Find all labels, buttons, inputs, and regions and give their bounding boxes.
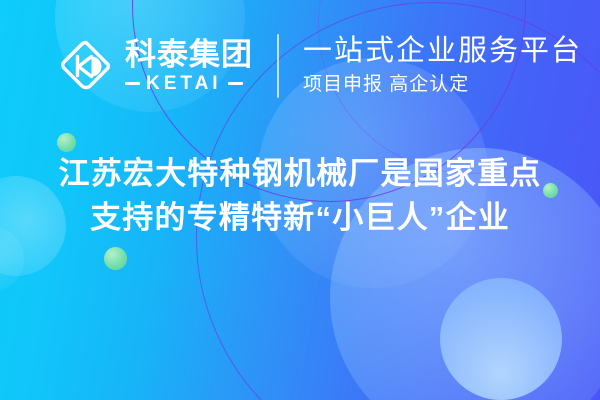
slogan-secondary: 项目申报 高企认定 xyxy=(303,73,582,98)
brand-dash-right xyxy=(228,82,243,85)
brand-name-en-row: KETAI xyxy=(125,74,253,93)
promo-banner: 科泰集团 KETAI 一站式企业服务平台 项目申报 高企认定 江苏宏大特种钢机械… xyxy=(0,0,600,400)
decor-dot-green-bottom xyxy=(104,247,127,270)
ketai-diamond-kd-logo-icon xyxy=(58,38,114,94)
slogan-block: 一站式企业服务平台 项目申报 高企认定 xyxy=(303,34,582,98)
header-divider xyxy=(277,34,279,98)
brand-name-en: KETAI xyxy=(146,74,222,93)
banner-header: 科泰集团 KETAI 一站式企业服务平台 项目申报 高企认定 xyxy=(0,0,600,132)
brand-dash-left xyxy=(125,82,140,85)
decor-circle-bottom-right xyxy=(440,278,562,400)
decor-dot-green-left xyxy=(57,133,76,152)
slogan-primary: 一站式企业服务平台 xyxy=(303,34,582,68)
headline-block: 江苏宏大特种钢机械厂是国家重点 支持的专精特新“小巨人”企业 xyxy=(0,152,600,240)
brand-wordmark: 科泰集团 KETAI xyxy=(125,39,253,94)
brand-logo[interactable]: 科泰集团 KETAI xyxy=(58,38,253,94)
headline-line-1: 江苏宏大特种钢机械厂是国家重点 xyxy=(26,152,574,196)
headline-line-2: 支持的专精特新“小巨人”企业 xyxy=(26,196,574,240)
brand-name-cn: 科泰集团 xyxy=(125,39,253,72)
